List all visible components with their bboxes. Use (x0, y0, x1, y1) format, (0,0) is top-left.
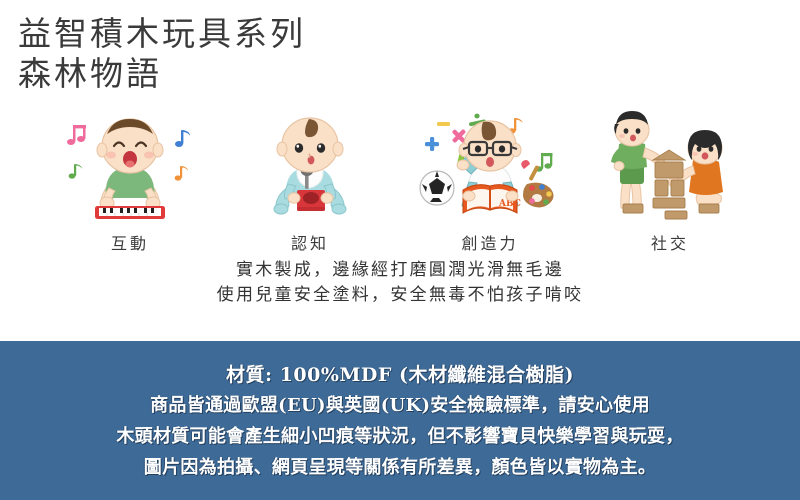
footer-notice-panel: 材質: 100%MDF (木材纖維混合樹脂) 商品皆通過歐盟(EU)與英國(UK… (0, 341, 800, 500)
footer-color-notice-line: 圖片因為拍攝、網頁呈現等關係有所差異，顏色皆以實物為主。 (144, 452, 656, 483)
feature-label-creativity: 創造力 (461, 230, 518, 254)
music-note-blue-icon (175, 130, 190, 147)
baby-reading-book-icon: ABC (415, 108, 565, 226)
description-line-1: 實木製成，邊緣經打磨圓潤光滑無毛邊 (0, 258, 800, 283)
title-line-1: 益智積木玩具系列 (18, 14, 306, 54)
soccer-ball-icon (420, 171, 454, 205)
product-banner: 益智積木玩具系列 森林物語 (0, 0, 800, 500)
description-block: 實木製成，邊緣經打磨圓潤光滑無毛邊 使用兒童安全塗料，安全無毒不怕孩子啃咬 (0, 258, 800, 308)
feature-row: 互動 (0, 104, 800, 254)
footer-wood-notice-line: 木頭材質可能會產生細小凹痕等狀況，但不影響寶貝快樂學習與玩耍， (116, 421, 683, 452)
paint-palette-icon (523, 183, 554, 208)
footer-certification-line: 商品皆通過歐盟(EU)與英國(UK)安全檢驗標準，請安心使用 (150, 390, 650, 421)
feature-label-interaction: 互動 (111, 230, 149, 254)
music-note-orange-icon (175, 166, 188, 181)
page-title: 益智積木玩具系列 森林物語 (18, 14, 306, 94)
baby-playing-piano-icon (55, 108, 205, 226)
feature-label-cognition: 認知 (291, 230, 329, 254)
paint-brush-icon (521, 160, 539, 181)
baby-with-rattle-icon (235, 108, 385, 226)
music-note-pink-icon (67, 125, 86, 145)
feature-item-interaction: 互動 (40, 104, 220, 254)
description-line-2: 使用兒童安全塗料，安全無毒不怕孩子啃咬 (0, 283, 800, 308)
feature-label-social: 社交 (651, 230, 689, 254)
footer-material-line: 材質: 100%MDF (木材纖維混合樹脂) (226, 360, 574, 390)
feature-item-cognition: 認知 (220, 104, 400, 254)
children-building-blocks-icon (595, 108, 745, 226)
feature-item-social: 社交 (580, 104, 760, 254)
red-cloth-icon (297, 190, 325, 211)
title-line-2: 森林物語 (18, 54, 306, 94)
music-note-green-icon (69, 164, 82, 179)
feature-item-creativity: ABC 創造力 (400, 104, 580, 254)
